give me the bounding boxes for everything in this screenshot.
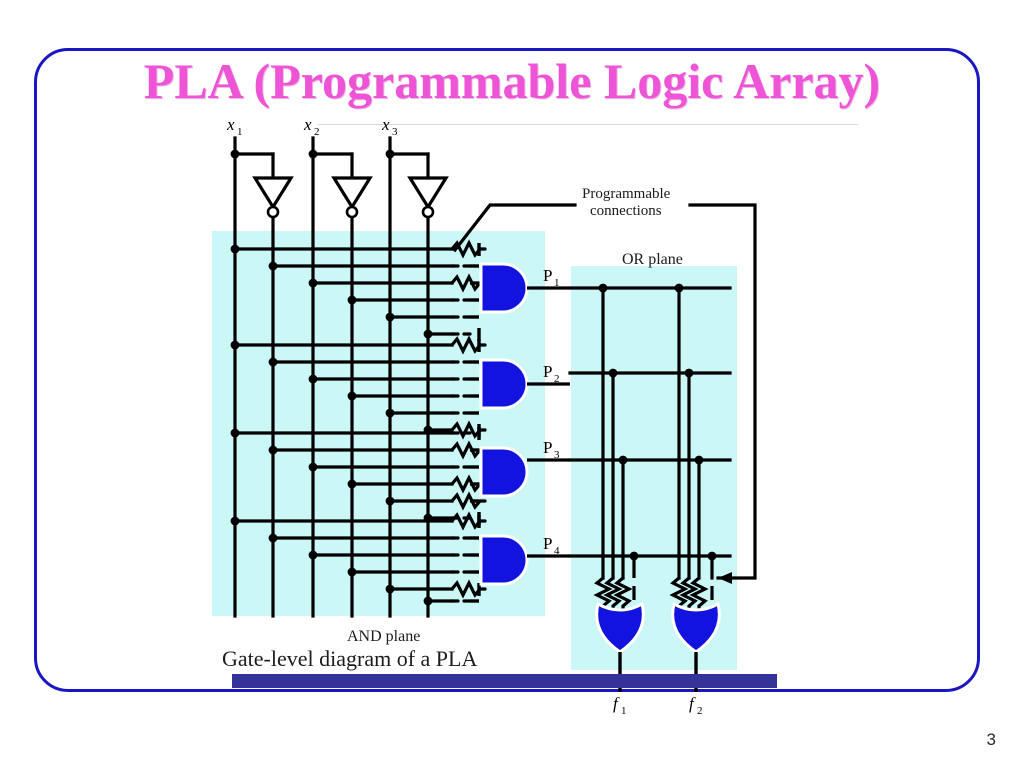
svg-text:1: 1 (237, 126, 243, 138)
inverter-x2 (334, 178, 370, 207)
svg-text:3: 3 (392, 126, 398, 138)
svg-text:P: P (543, 362, 552, 381)
diagram-caption: Gate-level diagram of a PLA (222, 646, 477, 671)
svg-text:2: 2 (314, 126, 320, 138)
svg-text:3: 3 (554, 449, 560, 461)
svg-text:x: x (303, 115, 312, 134)
svg-text:P: P (543, 438, 552, 457)
input-label-x1: x 1 (226, 115, 243, 138)
svg-text:2: 2 (697, 705, 703, 717)
svg-text:2: 2 (554, 373, 560, 385)
product-label-p4: P 4 (543, 534, 560, 557)
svg-text:P: P (543, 266, 552, 285)
svg-text:P: P (543, 534, 552, 553)
inverter-bubble-x3 (423, 207, 433, 217)
inverter-bubble-x1 (268, 207, 278, 217)
svg-text:f: f (689, 694, 696, 713)
svg-text:4: 4 (554, 545, 560, 557)
svg-text:1: 1 (621, 705, 627, 717)
product-label-p1: P 1 (543, 266, 560, 289)
product-label-p2: P 2 (543, 362, 560, 385)
or-plane-label: OR plane (622, 251, 683, 268)
input-label-x2: x 2 (303, 115, 320, 138)
programmable-connections-label-line1: Programmable (582, 186, 671, 202)
svg-text:x: x (381, 115, 390, 134)
svg-text:f: f (613, 694, 620, 713)
and-plane-label: AND plane (347, 628, 420, 645)
page-number: 3 (987, 730, 996, 750)
svg-text:x: x (226, 115, 235, 134)
input-label-x3: x 3 (381, 115, 398, 138)
programmable-connections-label-line2: connections (590, 203, 662, 219)
pla-gate-level-diagram: x 1 x 2 x 3 (0, 0, 1024, 768)
inverter-x3 (410, 178, 446, 207)
bottom-accent-bar (232, 674, 777, 688)
output-label-f1: f 1 (613, 694, 627, 717)
svg-text:1: 1 (554, 277, 560, 289)
output-label-f2: f 2 (689, 694, 703, 717)
product-label-p3: P 3 (543, 438, 560, 461)
inverter-bubble-x2 (347, 207, 357, 217)
inverter-x1 (255, 178, 291, 207)
